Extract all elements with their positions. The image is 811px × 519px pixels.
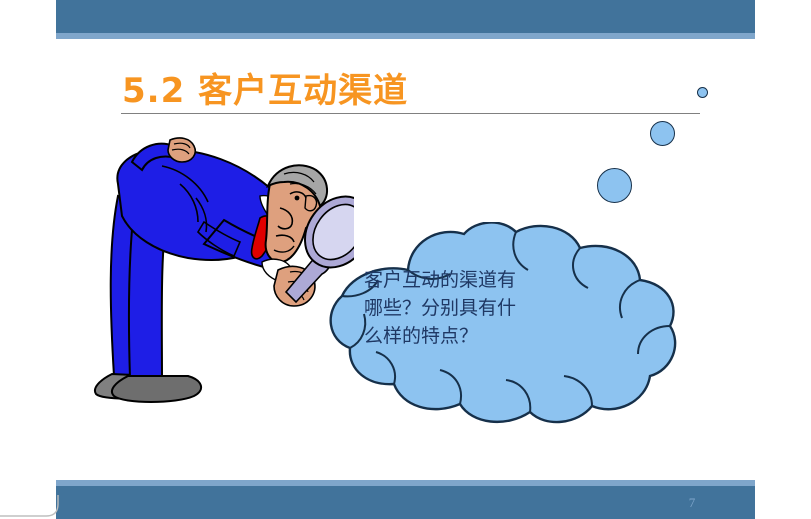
top-bar-light — [56, 33, 755, 39]
slide-canvas: 5.2 客户互动渠道 — [0, 0, 811, 519]
deco-circle-large — [597, 168, 632, 203]
title-underline — [121, 113, 700, 114]
deco-circle-medium — [650, 121, 675, 146]
page-title: 5.2 客户互动渠道 — [122, 63, 408, 112]
corner-curve-decoration — [0, 495, 70, 519]
top-bar-dark — [56, 0, 755, 33]
deco-circle-small — [697, 87, 708, 98]
bottom-bar-dark — [56, 486, 755, 519]
page-number: 7 — [680, 495, 704, 511]
thought-bubble-text: 客户互动的渠道有 哪些？分别具有什 么样的特点？ — [364, 266, 612, 350]
thought-bubble: 客户互动的渠道有 哪些？分别具有什 么样的特点？ — [292, 222, 692, 430]
